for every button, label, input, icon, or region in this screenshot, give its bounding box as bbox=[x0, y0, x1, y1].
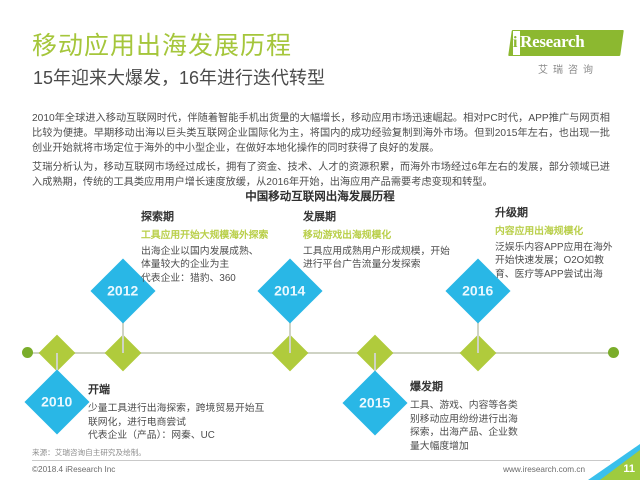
year-label-2010: 2010 bbox=[41, 394, 72, 410]
stage-title-2014: 发展期 bbox=[303, 208, 468, 224]
year-label-2012: 2012 bbox=[107, 283, 138, 299]
corner-decoration: 11 bbox=[588, 444, 640, 480]
stage-title-2016: 升级期 bbox=[495, 204, 625, 220]
stage-lead-2012: 工具应用开始大规模海外探索 bbox=[141, 229, 281, 243]
stage-desc-2015-line1: 工具、游戏、内容等各类 bbox=[410, 399, 535, 413]
year-label-2015: 2015 bbox=[359, 395, 390, 411]
stage-block-2016: 升级期 内容应用出海规模化 泛娱乐内容APP应用在海外 开始快速发展；O2O如教… bbox=[495, 204, 625, 281]
stage-desc-2012-line1: 出海企业以国内发展成熟、 bbox=[141, 245, 281, 259]
stage-lead-2016: 内容应用出海规模化 bbox=[495, 225, 625, 239]
stage-desc-2016-line1: 泛娱乐内容APP应用在海外 bbox=[495, 241, 625, 255]
slide-page: 移动应用出海发展历程 15年迎来大爆发，16年进行迭代转型 i Research… bbox=[0, 0, 640, 480]
stage-block-2010: 开端 少量工具进行出海探索，跨境贸易开始互 联网化，进行电商尝试 代表企业（产品… bbox=[88, 381, 288, 443]
intro-paragraph-1: 2010年全球进入移动互联网时代，伴随着智能手机出货量的大幅增长，移动应用市场迅… bbox=[32, 111, 610, 157]
stage-desc-2015-line2: 别移动应用纷纷进行出海 bbox=[410, 413, 535, 427]
iresearch-logo: i Research 艾瑞咨询 bbox=[510, 30, 622, 76]
stage-title-2010: 开端 bbox=[88, 381, 288, 397]
stage-desc-2015-line3: 探索，出海产品、企业数 bbox=[410, 426, 535, 440]
website-url[interactable]: www.iresearch.com.cn bbox=[503, 465, 585, 474]
year-label-2014: 2014 bbox=[274, 283, 305, 299]
stage-title-2012: 探索期 bbox=[141, 208, 281, 224]
intro-paragraph-2: 艾瑞分析认为，移动互联网市场经过成长，拥有了资金、技术、人才的资源积累，而海外市… bbox=[32, 160, 610, 190]
stage-desc-2010-line3: 代表企业（产品）：网秦、UC bbox=[88, 429, 288, 443]
stage-desc-2015-line4: 量大幅度增加 bbox=[410, 440, 535, 454]
timeline-endcap-left bbox=[22, 347, 33, 358]
logo-chinese-name: 艾瑞咨询 bbox=[510, 61, 622, 76]
year-marker-2010[interactable]: 2010 bbox=[24, 369, 89, 434]
page-title: 移动应用出海发展历程 bbox=[32, 30, 292, 62]
logo-badge: i Research bbox=[508, 30, 624, 56]
page-number: 11 bbox=[623, 463, 635, 475]
year-label-2016: 2016 bbox=[462, 283, 493, 299]
year-marker-2015[interactable]: 2015 bbox=[342, 370, 407, 435]
stage-desc-2014-line2: 进行平台广告流量分发探索 bbox=[303, 258, 468, 272]
timeline-chart: 2010 2012 2014 2015 2016 探索期 工具应用开始大规模海外… bbox=[0, 200, 640, 440]
logo-i-mark: i bbox=[513, 31, 520, 55]
source-note: 来源：艾瑞咨询自主研究及绘制。 bbox=[32, 447, 146, 458]
stage-desc-2012-line2: 体量较大的企业为主 bbox=[141, 258, 281, 272]
stage-block-2014: 发展期 移动游戏出海规模化 工具应用成熟用户形成规模，开始 进行平台广告流量分发… bbox=[303, 208, 468, 272]
stage-block-2015: 爆发期 工具、游戏、内容等各类 别移动应用纷纷进行出海 探索，出海产品、企业数 … bbox=[410, 378, 535, 453]
stage-desc-2016-line2: 开始快速发展；O2O如教 bbox=[495, 254, 625, 268]
timeline-endcap-right bbox=[608, 347, 619, 358]
logo-i-letter: i bbox=[513, 34, 517, 52]
stage-desc-2010-line1: 少量工具进行出海探索，跨境贸易开始互 bbox=[88, 402, 288, 416]
stage-desc-2010-line2: 联网化，进行电商尝试 bbox=[88, 416, 288, 430]
stage-block-2012: 探索期 工具应用开始大规模海外探索 出海企业以国内发展成熟、 体量较大的企业为主… bbox=[141, 208, 281, 285]
stage-lead-2014: 移动游戏出海规模化 bbox=[303, 229, 468, 243]
page-subtitle: 15年迎来大爆发，16年进行迭代转型 bbox=[33, 66, 325, 90]
copyright-text: ©2018.4 iResearch Inc bbox=[32, 465, 115, 474]
footer-divider bbox=[32, 460, 610, 461]
stage-title-2015: 爆发期 bbox=[410, 378, 535, 394]
stage-desc-2012-line3: 代表企业：猎豹、360 bbox=[141, 272, 281, 286]
stage-desc-2014-line1: 工具应用成熟用户形成规模，开始 bbox=[303, 245, 468, 259]
stage-desc-2016-line3: 育、医疗等APP尝试出海 bbox=[495, 268, 625, 282]
logo-wordmark: Research bbox=[520, 32, 584, 52]
